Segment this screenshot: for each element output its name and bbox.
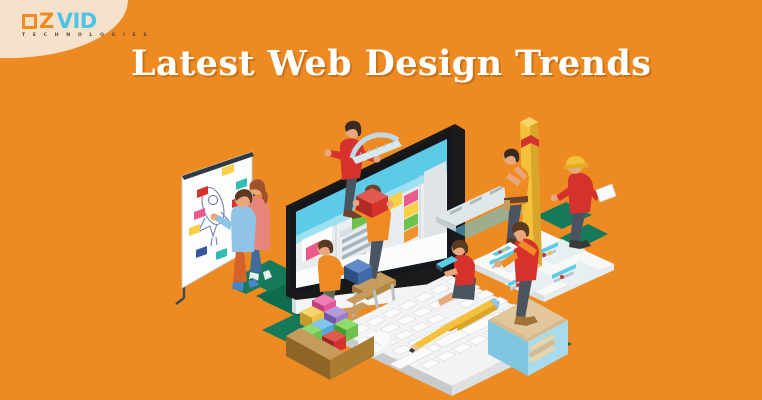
logo-letters-vid: VID — [57, 12, 97, 31]
page-title: Latest Web Design Trends — [131, 42, 651, 86]
logo-wordmark: Z VID — [22, 12, 150, 31]
logo-letter-z: Z — [39, 12, 54, 31]
logo-tagline: T E C H N O L O G I E S — [22, 33, 150, 39]
man-with-hardhat-reviewing — [551, 156, 617, 249]
logo-o-square-icon — [22, 14, 37, 29]
ozvid-logo[interactable]: Z VID T E C H N O L O G I E S — [22, 12, 150, 39]
banner-canvas: Z VID T E C H N O L O G I E S Latest Web… — [0, 0, 762, 400]
